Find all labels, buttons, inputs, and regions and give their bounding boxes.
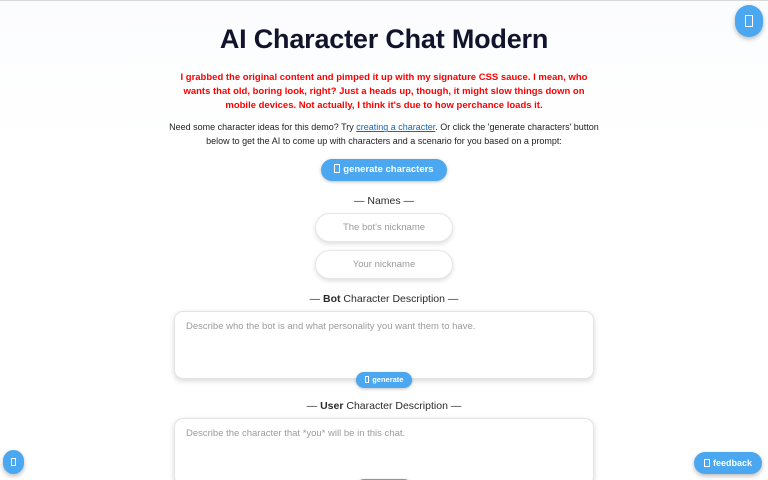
user-label-dash-right: — <box>451 400 462 412</box>
info-icon <box>11 458 17 467</box>
user-nickname-input[interactable] <box>315 250 453 279</box>
user-description-textarea[interactable] <box>174 418 594 480</box>
generate-characters-button[interactable]: generate characters <box>321 159 446 181</box>
sparkle-icon <box>334 164 340 173</box>
bot-generate-row: generate <box>0 379 768 398</box>
create-character-link[interactable]: creating a character <box>356 122 435 132</box>
top-right-floating-button[interactable] <box>735 5 763 37</box>
bot-label-rest: Character Description <box>341 293 448 305</box>
bottom-left-floating-button[interactable] <box>3 450 24 474</box>
bot-label-strong: Bot <box>323 293 341 305</box>
feedback-label: feedback <box>713 458 752 468</box>
bot-generate-label: generate <box>372 375 403 384</box>
menu-icon <box>745 15 752 26</box>
bot-label-dash-left: — <box>310 293 321 305</box>
speech-bubble-icon <box>704 459 710 468</box>
generate-characters-label: generate characters <box>343 164 433 175</box>
generate-characters-row: generate characters <box>0 148 768 181</box>
bot-nickname-input[interactable] <box>315 213 453 242</box>
bot-description-textarea[interactable] <box>174 311 594 379</box>
page-title: AI Character Chat Modern <box>0 0 768 55</box>
sparkle-icon <box>365 376 370 383</box>
bot-description-label: — Bot Character Description — <box>0 293 768 305</box>
names-section-label: — Names — <box>0 195 768 207</box>
intro-text: Need some character ideas for this demo?… <box>169 121 599 148</box>
bot-description-wrap <box>174 311 594 379</box>
warning-notice: I grabbed the original content and pimpe… <box>169 71 599 112</box>
user-label-strong: User <box>320 400 343 412</box>
app-page: AI Character Chat Modern I grabbed the o… <box>0 0 768 480</box>
user-label-rest: Character Description <box>343 400 450 412</box>
user-description-wrap <box>174 418 594 480</box>
bot-label-dash-right: — <box>448 293 459 305</box>
user-label-dash-left: — <box>307 400 318 412</box>
intro-text-before: Need some character ideas for this demo?… <box>169 122 356 132</box>
feedback-button[interactable]: feedback <box>694 452 762 474</box>
user-description-label: — User Character Description — <box>0 400 768 412</box>
bot-generate-button[interactable]: generate <box>356 372 413 388</box>
